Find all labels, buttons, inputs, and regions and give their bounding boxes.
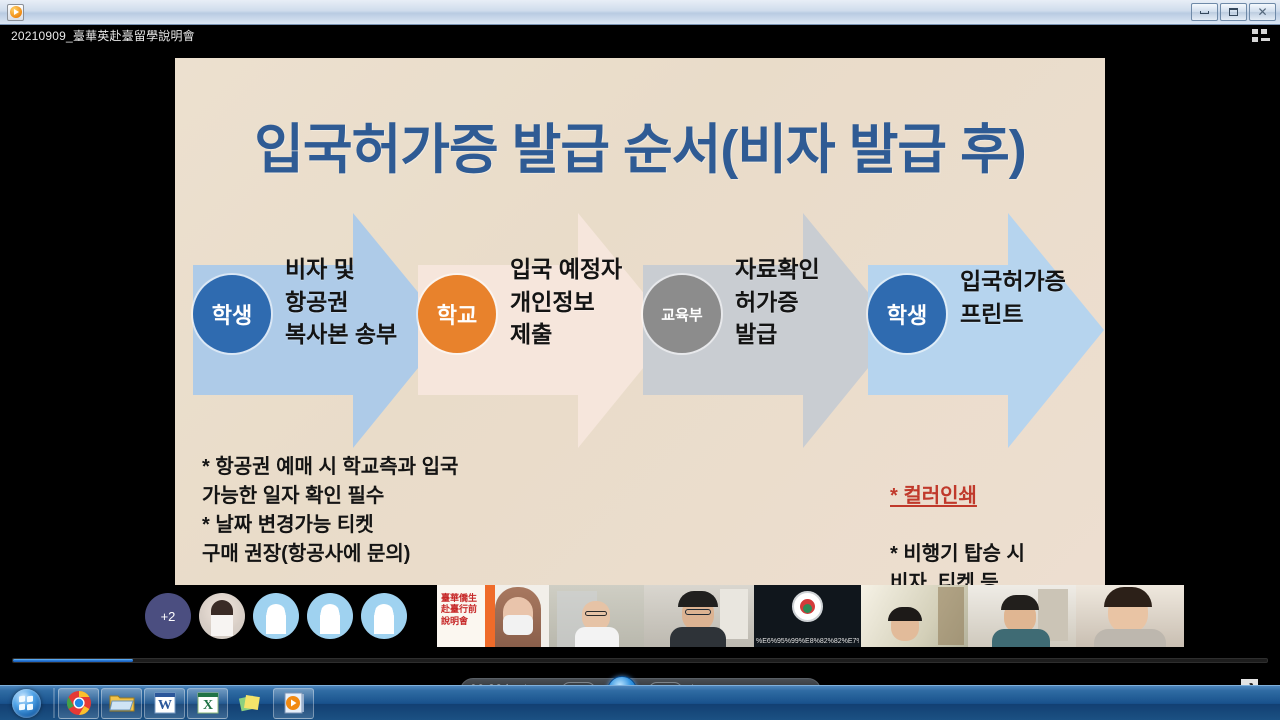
flow-badge-3: 교육부 <box>643 275 721 353</box>
flow-badge-label-1: 학생 <box>212 298 252 330</box>
taskbar-explorer[interactable] <box>101 688 142 719</box>
svg-text:X: X <box>202 698 212 713</box>
flow-badge-label-3: 교육부 <box>661 304 702 325</box>
slide-notes-right: * 컬러인쇄 * 비행기 탑승 시 비자, 티켓 등 관련서류와 함께 제시 <box>890 453 1025 586</box>
seek-track[interactable] <box>12 658 1268 663</box>
seek-bar[interactable] <box>0 655 1280 665</box>
tile-slide-line-3: 說明會 <box>441 616 468 626</box>
participant-tile-logo-label: %E6%95%99%E8%82%82%E7%B5... <box>756 638 859 645</box>
tile-slide-line-2: 赴臺行前 <box>441 604 477 614</box>
flow-step-2: 학교 입국 예정자 개인정보 제출 <box>418 213 676 448</box>
slide-notes-right-body: * 비행기 탑승 시 비자, 티켓 등 관련서류와 함께 제시 <box>890 540 1025 586</box>
flow-step-4: 학생 입국허가증 프린트 <box>868 213 1105 448</box>
maximize-button[interactable] <box>1220 3 1247 21</box>
video-title: 20210909_臺華英赴臺留學說明會 <box>0 25 1280 47</box>
participant-overflow-badge[interactable]: +2 <box>145 593 191 639</box>
taskbar-excel[interactable]: X <box>187 688 228 719</box>
transport-pill <box>460 678 821 685</box>
participant-tile-6[interactable] <box>968 585 1076 647</box>
process-flow: 학생 비자 및 항공권 복사본 송부 학교 입국 예정자 개인정보 제출 <box>175 213 1105 448</box>
media-player-window: 20210909_臺華英赴臺留學說明會 입국허가증 발급 순서(비자 발급 후)… <box>0 25 1280 685</box>
flow-step-1: 학생 비자 및 항공권 복사본 송부 <box>193 213 451 448</box>
transport-controls: 06:32 <box>0 673 1280 685</box>
flow-text-2: 입국 예정자 개인정보 제출 <box>510 253 622 351</box>
window-controls: ✕ <box>1191 3 1276 21</box>
flow-badge-label-2: 학교 <box>437 298 477 330</box>
minimize-button[interactable] <box>1191 3 1218 21</box>
flow-badge-2: 학교 <box>418 275 496 353</box>
taskbar-word[interactable]: W <box>144 688 185 719</box>
layout-grid-icon[interactable] <box>1252 29 1270 44</box>
tile-slide-line-1: 臺華僑生 <box>441 593 477 603</box>
svg-text:W: W <box>158 698 172 713</box>
participant-tile-logo[interactable]: %E6%95%99%E8%82%82%E7%B5... <box>754 585 861 647</box>
flow-text-3: 자료확인 허가증 발급 <box>735 253 820 351</box>
flow-badge-label-4: 학생 <box>887 298 927 330</box>
participant-avatar-generic-2[interactable] <box>307 593 353 639</box>
taskbar-notes[interactable] <box>230 688 271 719</box>
flow-badge-1: 학생 <box>193 275 271 353</box>
participant-tile-presenter[interactable]: 臺華僑生 赴臺行前 說明會 <box>437 585 549 647</box>
presentation-slide: 입국허가증 발급 순서(비자 발급 후) 학생 비자 및 항공권 복사본 송부 <box>175 58 1105 586</box>
participant-avatar-generic-1[interactable] <box>253 593 299 639</box>
participant-tile-7[interactable] <box>1076 585 1184 647</box>
taskbar-divider <box>53 688 55 718</box>
participant-tile-3[interactable] <box>644 585 754 647</box>
windows-taskbar: W X CH <box>0 685 1280 720</box>
window-titlebar: ✕ <box>0 0 1280 25</box>
flow-text-1: 비자 및 항공권 복사본 송부 <box>285 253 397 351</box>
flow-text-4: 입국허가증 프린트 <box>960 265 1066 330</box>
flow-step-3: 교육부 자료확인 허가증 발급 <box>643 213 901 448</box>
start-button[interactable] <box>2 688 50 719</box>
slide-notes-highlight: * 컬러인쇄 <box>890 482 1025 511</box>
pause-icon[interactable] <box>607 676 637 685</box>
slide-title: 입국허가증 발급 순서(비자 발급 후) <box>175 105 1105 184</box>
participant-tile-5[interactable] <box>861 585 968 647</box>
participant-tile-2[interactable] <box>549 585 644 647</box>
taskbar-chrome[interactable] <box>58 688 99 719</box>
media-player-icon <box>7 4 24 21</box>
participant-overflow-label: +2 <box>161 609 176 624</box>
slide-notes-left: * 항공권 예매 시 학교측과 입국 가능한 일자 확인 필수 * 날짜 변경가… <box>202 453 458 569</box>
participant-strip: +2 臺華僑生 赴臺行前 說明會 <box>0 585 1280 647</box>
taskbar-media-player[interactable] <box>273 688 314 719</box>
desktop-screen: ✕ 20210909_臺華英赴臺留學說明會 입국허가증 발급 순서(비자 발급 … <box>0 0 1280 720</box>
participant-avatar-photo[interactable] <box>199 593 245 639</box>
participant-avatar-generic-3[interactable] <box>361 593 407 639</box>
flow-badge-4: 학생 <box>868 275 946 353</box>
seek-progress <box>13 659 133 662</box>
close-button[interactable]: ✕ <box>1249 3 1276 21</box>
